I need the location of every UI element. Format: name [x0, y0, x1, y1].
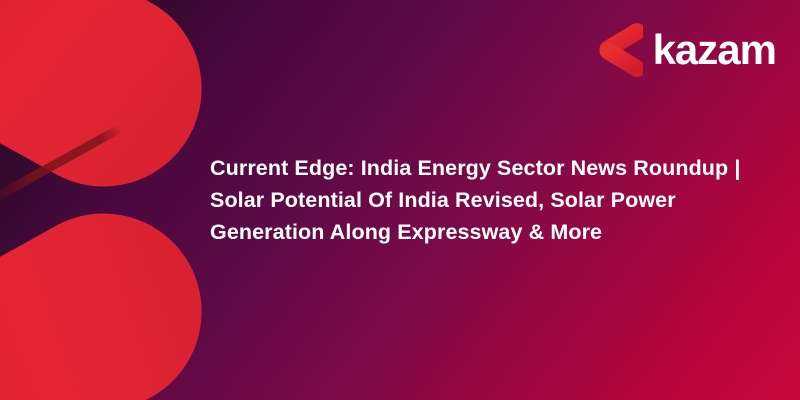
headline-line-3: Generation Along Expressway & More [210, 216, 755, 248]
kazam-logo[interactable]: kazam [597, 22, 776, 78]
article-header-banner: kazam Current Edge: India Energy Sector … [0, 0, 800, 400]
chevron-upper-capsule-shape [0, 0, 237, 222]
chevron-seam-accent [0, 124, 123, 205]
kazam-chevron-mark-icon [597, 22, 643, 78]
headline-line-1: Current Edge: India Energy Sector News R… [210, 152, 755, 184]
headline-line-2: Solar Potential Of India Revised, Solar … [210, 184, 755, 216]
chevron-lower-capsule-shape [0, 178, 237, 400]
kazam-wordmark: kazam [653, 29, 776, 71]
article-headline: Current Edge: India Energy Sector News R… [210, 152, 755, 248]
